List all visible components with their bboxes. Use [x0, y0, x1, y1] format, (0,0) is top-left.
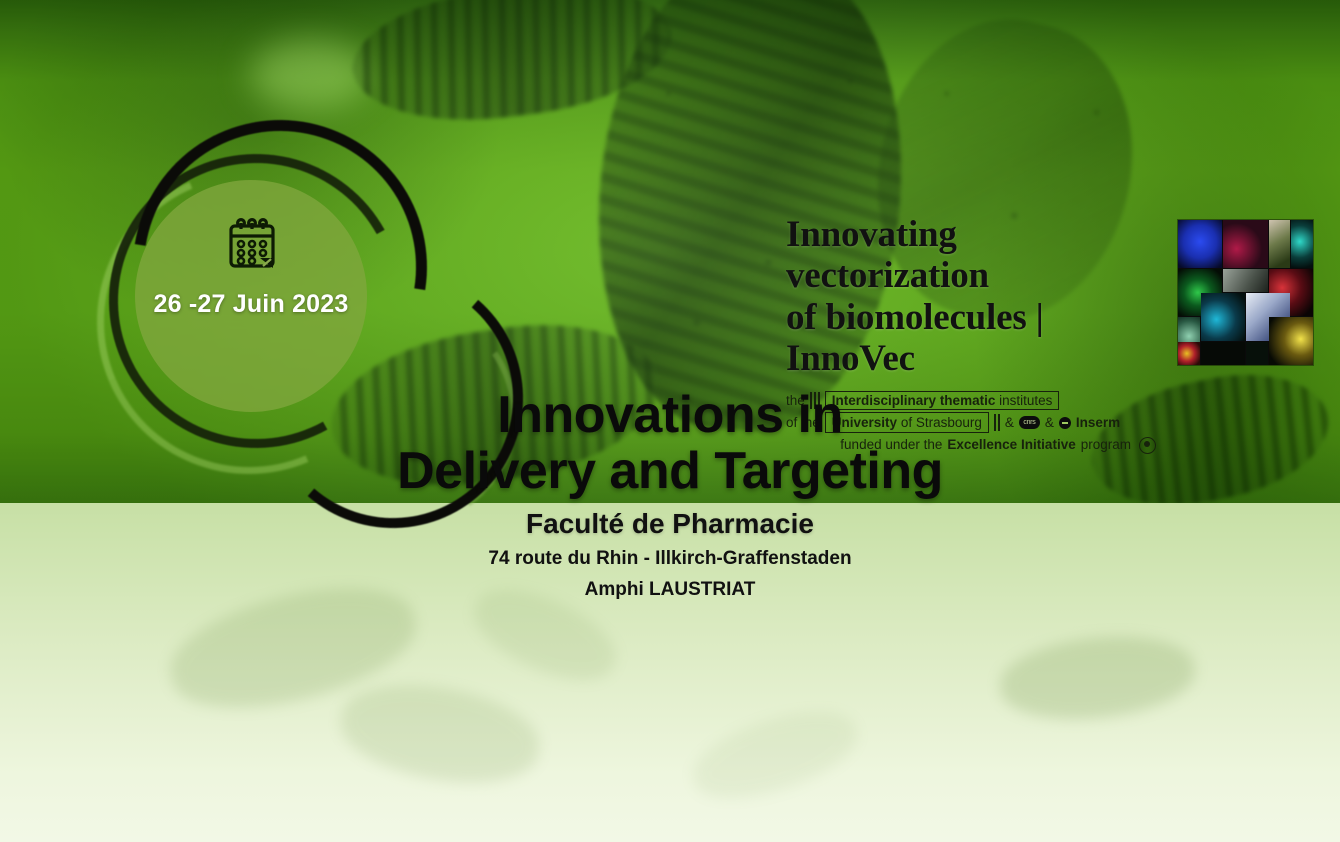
- background-highlight: [250, 40, 370, 110]
- calendar-icon: [226, 216, 278, 270]
- venue-room: Amphi LAUSTRIAT: [0, 576, 1340, 605]
- headline-line2: Delivery and Targeting: [0, 444, 1340, 500]
- innovec-title-line2: of biomolecules | InnoVec: [786, 297, 1158, 380]
- page-title: Innovations in Delivery and Targeting: [0, 388, 1340, 499]
- venue-place: Faculté de Pharmacie: [0, 506, 1340, 542]
- innovec-title-line1: Innovating vectorization: [786, 214, 1158, 297]
- scientific-image-collage: [1178, 220, 1313, 365]
- date-badge: 26 -27 Juin 2023: [95, 118, 425, 428]
- conference-poster: 26 -27 Juin 2023 Innovating vectorizatio…: [0, 0, 1340, 842]
- background-bacterium: [345, 0, 678, 135]
- venue-block: Faculté de Pharmacie 74 route du Rhin - …: [0, 506, 1340, 604]
- background-ghost-bacterium: [996, 628, 1198, 728]
- footer-logo-bar: cnrs Inserm Université de Strasbourg: [0, 748, 1340, 842]
- date-text: 26 -27 Juin 2023: [95, 290, 407, 319]
- headline-line1: Innovations in: [0, 388, 1340, 444]
- venue-address: 74 route du Rhin - Illkirch-Graffenstade…: [0, 545, 1340, 574]
